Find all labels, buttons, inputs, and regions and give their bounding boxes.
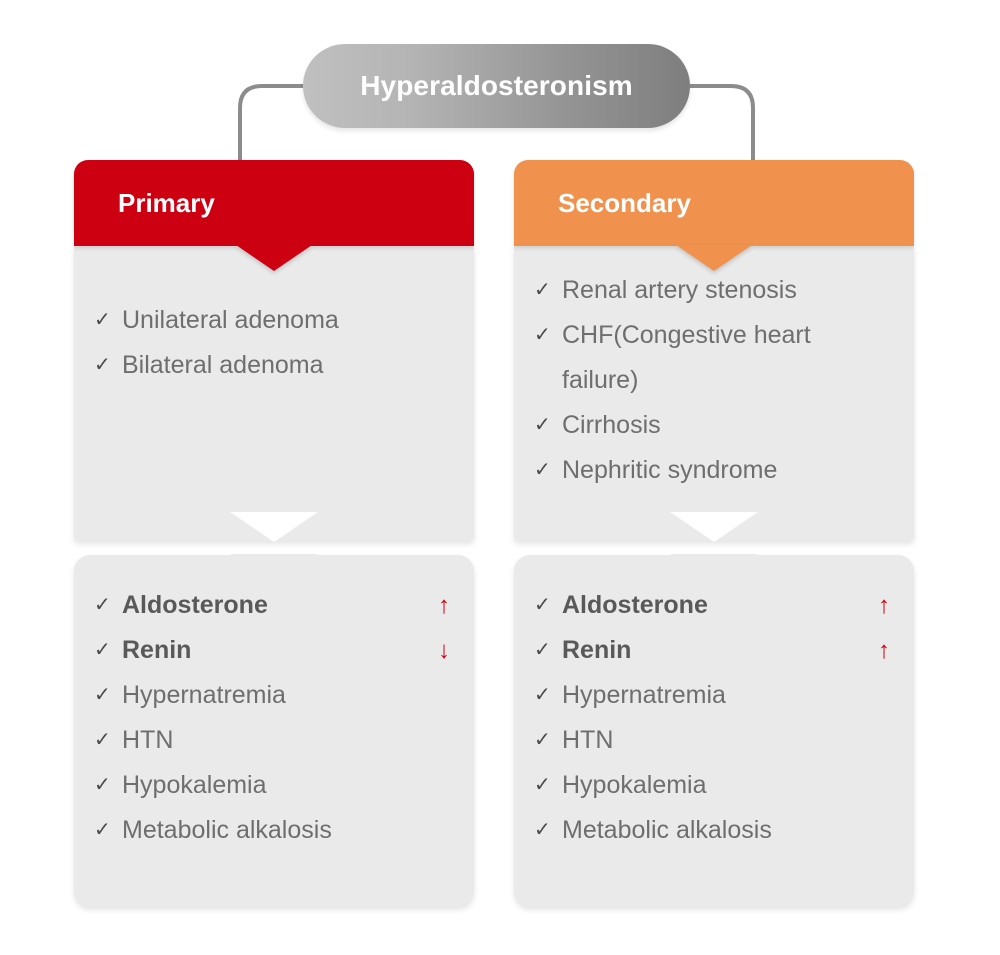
panel-primary-causes: ✓ Unilateral adenoma ✓ Bilateral adenoma — [74, 246, 474, 541]
connector-right — [690, 86, 753, 162]
header-primary-label: Primary — [74, 188, 215, 219]
trend-arrow-icon: ↑ — [874, 583, 890, 628]
header-primary[interactable]: Primary — [74, 160, 474, 246]
list-item-label: Nephritic syndrome — [562, 448, 890, 493]
check-icon: ✓ — [94, 298, 122, 343]
list-primary-findings: ✓ Aldosterone ↑ ✓ Renin ↓ ✓ Hypernatremi… — [74, 583, 474, 853]
list-item-label: Hypokalemia — [122, 763, 450, 808]
list-item-label: Hypernatremia — [122, 673, 450, 718]
list-item-label: HTN — [122, 718, 450, 763]
list-item-label: Renin — [122, 628, 434, 673]
panel-top-notch — [670, 554, 758, 584]
check-icon: ✓ — [534, 268, 562, 313]
list-item-label: Metabolic alkalosis — [122, 808, 450, 853]
check-icon: ✓ — [94, 343, 122, 388]
diagram-canvas: Hyperaldosteronism Primary ✓ Unilateral … — [0, 0, 1000, 955]
check-icon: ✓ — [94, 763, 122, 808]
list-item: ✓ Metabolic alkalosis — [532, 808, 890, 853]
header-secondary[interactable]: Secondary — [514, 160, 914, 246]
list-item: ✓ Aldosterone ↑ — [92, 583, 450, 628]
list-primary-causes: ✓ Unilateral adenoma ✓ Bilateral adenoma — [74, 298, 474, 388]
list-item: ✓ HTN — [92, 718, 450, 763]
check-icon: ✓ — [534, 313, 562, 358]
list-item: ✓ Renal artery stenosis — [532, 268, 890, 313]
list-item-label: Hypokalemia — [562, 763, 890, 808]
list-item: ✓ Cirrhosis — [532, 403, 890, 448]
list-item-label: Unilateral adenoma — [122, 298, 450, 343]
list-item-label: Renin — [562, 628, 874, 673]
trend-arrow-icon: ↑ — [434, 583, 450, 628]
trend-arrow-icon: ↓ — [434, 628, 450, 673]
list-item: ✓ Renin ↓ — [92, 628, 450, 673]
list-item-label: Cirrhosis — [562, 403, 890, 448]
diagram-title-pill: Hyperaldosteronism — [303, 44, 690, 128]
list-item: ✓ Hypokalemia — [532, 763, 890, 808]
panel-secondary-causes: ✓ Renal artery stenosis ✓ CHF(Congestive… — [514, 246, 914, 541]
header-secondary-label: Secondary — [514, 188, 691, 219]
check-icon: ✓ — [534, 808, 562, 853]
header-secondary-notch — [676, 245, 752, 271]
list-item: ✓ Nephritic syndrome — [532, 448, 890, 493]
panel-secondary-findings: ✓ Aldosterone ↑ ✓ Renin ↑ ✓ Hypernatremi… — [514, 555, 914, 907]
list-item-label: CHF(Congestive heart failure) — [562, 313, 890, 403]
page-title: Hyperaldosteronism — [360, 70, 633, 102]
panel-divider-notch — [230, 512, 318, 542]
list-item: ✓ Hypernatremia — [92, 673, 450, 718]
check-icon: ✓ — [94, 628, 122, 673]
list-item-label: Metabolic alkalosis — [562, 808, 890, 853]
panel-top-notch — [230, 554, 318, 584]
check-icon: ✓ — [94, 583, 122, 628]
check-icon: ✓ — [534, 763, 562, 808]
check-icon: ✓ — [534, 673, 562, 718]
list-item-label: Renal artery stenosis — [562, 268, 890, 313]
list-item: ✓ Aldosterone ↑ — [532, 583, 890, 628]
column-primary: Primary ✓ Unilateral adenoma ✓ Bilateral… — [74, 160, 474, 907]
check-icon: ✓ — [534, 403, 562, 448]
list-item-label: HTN — [562, 718, 890, 763]
list-item-label: Aldosterone — [562, 583, 874, 628]
trend-arrow-icon: ↑ — [874, 628, 890, 673]
list-item-label: Bilateral adenoma — [122, 343, 450, 388]
panel-primary-findings: ✓ Aldosterone ↑ ✓ Renin ↓ ✓ Hypernatremi… — [74, 555, 474, 907]
check-icon: ✓ — [534, 628, 562, 673]
check-icon: ✓ — [94, 808, 122, 853]
list-item: ✓ Bilateral adenoma — [92, 343, 450, 388]
connector-left — [240, 86, 303, 162]
panel-divider-notch — [670, 512, 758, 542]
header-primary-notch — [236, 245, 312, 271]
check-icon: ✓ — [534, 583, 562, 628]
list-item: ✓ Hypernatremia — [532, 673, 890, 718]
list-item: ✓ CHF(Congestive heart failure) — [532, 313, 890, 403]
list-item: ✓ HTN — [532, 718, 890, 763]
list-item: ✓ Metabolic alkalosis — [92, 808, 450, 853]
check-icon: ✓ — [94, 673, 122, 718]
check-icon: ✓ — [534, 448, 562, 493]
list-item-label: Aldosterone — [122, 583, 434, 628]
list-item: ✓ Hypokalemia — [92, 763, 450, 808]
list-secondary-findings: ✓ Aldosterone ↑ ✓ Renin ↑ ✓ Hypernatremi… — [514, 583, 914, 853]
list-secondary-causes: ✓ Renal artery stenosis ✓ CHF(Congestive… — [514, 268, 914, 493]
column-secondary: Secondary ✓ Renal artery stenosis ✓ CHF(… — [514, 160, 914, 907]
check-icon: ✓ — [534, 718, 562, 763]
check-icon: ✓ — [94, 718, 122, 763]
list-item: ✓ Renin ↑ — [532, 628, 890, 673]
list-item-label: Hypernatremia — [562, 673, 890, 718]
list-item: ✓ Unilateral adenoma — [92, 298, 450, 343]
